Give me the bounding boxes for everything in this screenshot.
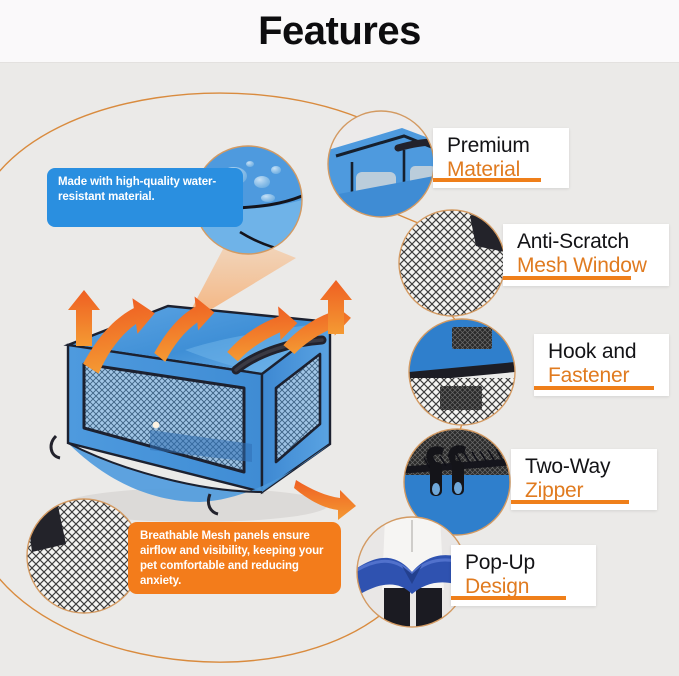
callout-breathable-mesh-text: Breathable Mesh panels ensure airflow an… bbox=[140, 530, 323, 587]
feature-label-premium-material[interactable]: Premium Material bbox=[433, 128, 569, 188]
feature-label-line1: Anti-Scratch bbox=[517, 230, 629, 254]
callout-breathable-mesh: Breathable Mesh panels ensure airflow an… bbox=[128, 522, 341, 594]
feature-label-two-way-zipper[interactable]: Two-Way Zipper bbox=[511, 449, 657, 510]
feature-label-pop-up-design[interactable]: Pop-Up Design bbox=[451, 545, 596, 606]
detail-circle-hook-and-fastener bbox=[409, 319, 515, 425]
detail-circle-anti-scratch-mesh bbox=[399, 210, 505, 316]
infographic-root: Features bbox=[0, 0, 679, 676]
callout-water-resistant: Made with high-quality water-resistant m… bbox=[47, 168, 243, 227]
feature-label-line2: Fastener bbox=[548, 364, 629, 388]
feature-label-line1: Premium bbox=[447, 134, 530, 158]
feature-label-line2: Mesh Window bbox=[517, 254, 647, 278]
feature-label-hook-and-fastener[interactable]: Hook and Fastener bbox=[534, 334, 669, 396]
feature-underline-bar bbox=[433, 178, 541, 182]
feature-underline-bar bbox=[451, 596, 566, 600]
product-pop-up-crate bbox=[51, 280, 356, 522]
feature-label-line1: Pop-Up bbox=[465, 551, 535, 575]
feature-label-anti-scratch-mesh[interactable]: Anti-Scratch Mesh Window bbox=[503, 224, 669, 286]
feature-label-line1: Hook and bbox=[548, 340, 636, 364]
feature-label-line1: Two-Way bbox=[525, 455, 610, 479]
feature-underline-bar bbox=[534, 386, 654, 390]
detail-circle-breathable-mesh bbox=[27, 499, 141, 613]
feature-underline-bar bbox=[511, 500, 629, 504]
connector-arc-top bbox=[0, 93, 360, 178]
feature-underline-bar bbox=[503, 276, 631, 280]
callout-water-resistant-text: Made with high-quality water-resistant m… bbox=[58, 176, 216, 203]
detail-circle-premium-material bbox=[328, 111, 436, 217]
